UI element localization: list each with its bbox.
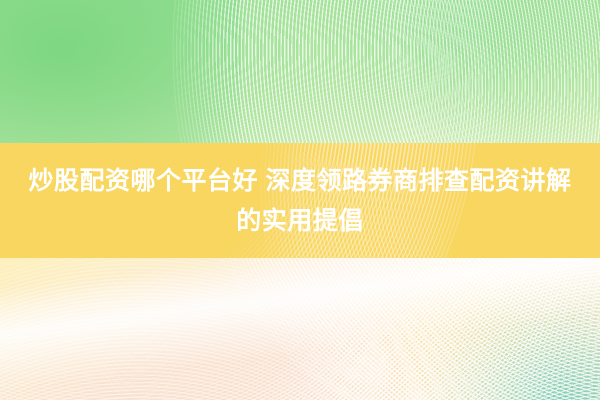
headline-line-1: 炒股配资哪个平台好 深度领路券商排查配资讲解	[29, 161, 572, 201]
headline-line-2: 的实用提倡	[236, 201, 364, 241]
banner-image: 炒股配资哪个平台好 深度领路券商排查配资讲解 的实用提倡	[0, 0, 600, 400]
title-band: 炒股配资哪个平台好 深度领路券商排查配资讲解 的实用提倡	[0, 143, 600, 258]
